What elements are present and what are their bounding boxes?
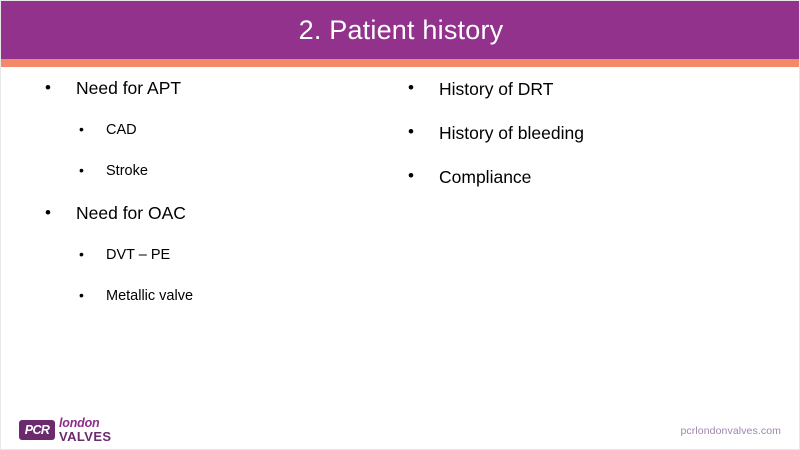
footer-website-url: pcrlondonvalves.com	[680, 425, 781, 437]
logo-word-valves: VALVES	[59, 430, 111, 443]
bullet-label: DVT – PE	[106, 247, 170, 263]
left-bullet-column: • Need for APT • CAD • Stroke • Need for…	[31, 67, 391, 317]
logo-word-london: london	[59, 417, 111, 430]
bullet-item: • Metallic valve	[31, 276, 391, 317]
bullet-label: Compliance	[439, 167, 531, 187]
bullet-item: • History of DRT	[394, 67, 774, 111]
slide-body: • Need for APT • CAD • Stroke • Need for…	[1, 67, 800, 397]
bullet-label: History of bleeding	[439, 123, 584, 143]
bullet-dot-icon: •	[408, 111, 414, 155]
bullet-dot-icon: •	[408, 155, 414, 199]
slide-title: 2. Patient history	[1, 1, 800, 59]
presentation-slide: 2. Patient history • Need for APT • CAD …	[0, 0, 800, 450]
bullet-item: • Stroke	[31, 151, 391, 192]
bullet-dot-icon: •	[79, 276, 84, 317]
bullet-label: Need for OAC	[76, 203, 186, 223]
bullet-dot-icon: •	[79, 110, 84, 151]
bullet-item: • DVT – PE	[31, 235, 391, 276]
pcr-badge-label: PCR	[25, 424, 50, 437]
bullet-label: Stroke	[106, 163, 148, 179]
bullet-dot-icon: •	[45, 192, 51, 235]
bullet-item: • Compliance	[394, 155, 774, 199]
bullet-item: • History of bleeding	[394, 111, 774, 155]
bullet-dot-icon: •	[408, 67, 414, 111]
bullet-item: • Need for APT	[31, 67, 391, 110]
pcr-london-valves-logo: PCR london VALVES	[19, 418, 111, 442]
bullet-item: • CAD	[31, 110, 391, 151]
bullet-label: CAD	[106, 122, 137, 138]
right-bullet-column: • History of DRT • History of bleeding •…	[394, 67, 774, 199]
bullet-label: Need for APT	[76, 78, 181, 98]
bullet-dot-icon: •	[79, 151, 84, 192]
bullet-item: • Need for OAC	[31, 192, 391, 235]
pcr-badge-icon: PCR	[19, 420, 55, 440]
bullet-label: History of DRT	[439, 79, 553, 99]
bullet-dot-icon: •	[45, 67, 51, 110]
logo-wordmark: london VALVES	[59, 417, 111, 444]
header-accent-bar	[1, 59, 800, 67]
bullet-label: Metallic valve	[106, 288, 193, 304]
bullet-dot-icon: •	[79, 235, 84, 276]
